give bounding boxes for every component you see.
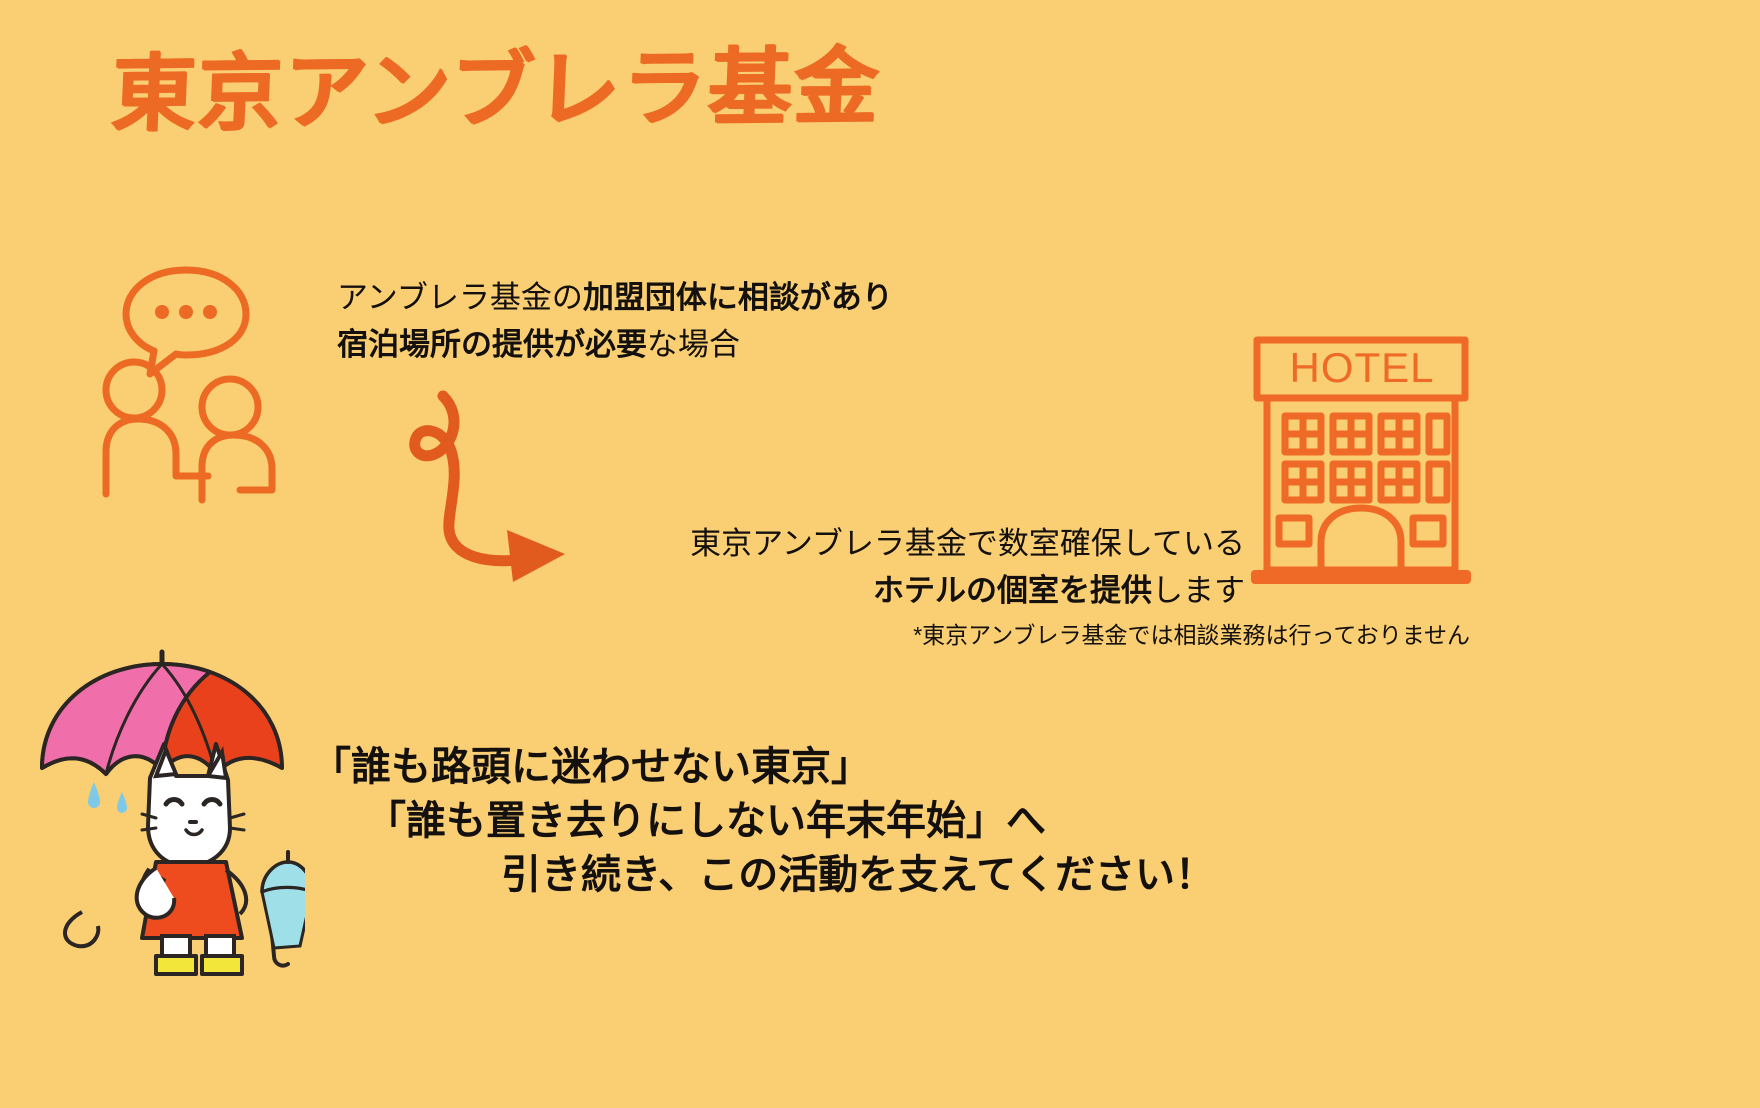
- cat-with-umbrella-mascot-icon: [30, 640, 305, 980]
- slogan-line-2: 「誰も置き去りにしない年末年始」へ: [311, 794, 1215, 848]
- step1-line2: 宿泊場所の提供が必要な場合: [337, 321, 893, 368]
- curved-arrow-icon: [395, 390, 625, 600]
- step1-line1-bold: 加盟団体に相談があり: [583, 280, 893, 315]
- page-title: 東京アンブレラ基金: [110, 44, 882, 136]
- hotel-sign-text: HOTEL: [1289, 344, 1434, 391]
- slogan-block: 「誰も路頭に迷わせない東京」 「誰も置き去りにしない年末年始」へ 引き続き、この…: [311, 740, 1215, 902]
- disclaimer-note: *東京アンブレラ基金では相談業務は行っておりません: [913, 618, 1470, 652]
- two-people-speech-bubble-icon: [90, 262, 330, 512]
- step2-line2-bold: ホテルの個室を提供: [873, 573, 1152, 608]
- step2-line1-regular: 東京アンブレラ基金で数室確保している: [690, 526, 1245, 561]
- step2-line2-regular: します: [1152, 573, 1245, 608]
- step1-line2-bold: 宿泊場所の提供が必要: [337, 327, 647, 362]
- step2-line1: 東京アンブレラ基金で数室確保している: [690, 520, 1245, 567]
- infographic-canvas: 東京アンブレラ基金: [0, 0, 1760, 1108]
- step1-text: アンブレラ基金の加盟団体に相談があり 宿泊場所の提供が必要な場合: [337, 274, 893, 368]
- step2-line2: ホテルの個室を提供します: [690, 567, 1245, 614]
- hotel-building-icon: HOTEL: [1245, 330, 1480, 595]
- step1-line1: アンブレラ基金の加盟団体に相談があり: [337, 274, 893, 321]
- slogan-line-3: 引き続き、この活動を支えてください！: [311, 848, 1215, 902]
- step2-text: 東京アンブレラ基金で数室確保している ホテルの個室を提供します: [690, 520, 1245, 614]
- slogan-line-1: 「誰も路頭に迷わせない東京」: [311, 745, 871, 789]
- step1-line2-regular: な場合: [647, 327, 740, 362]
- step1-line1-regular: アンブレラ基金の: [337, 280, 583, 315]
